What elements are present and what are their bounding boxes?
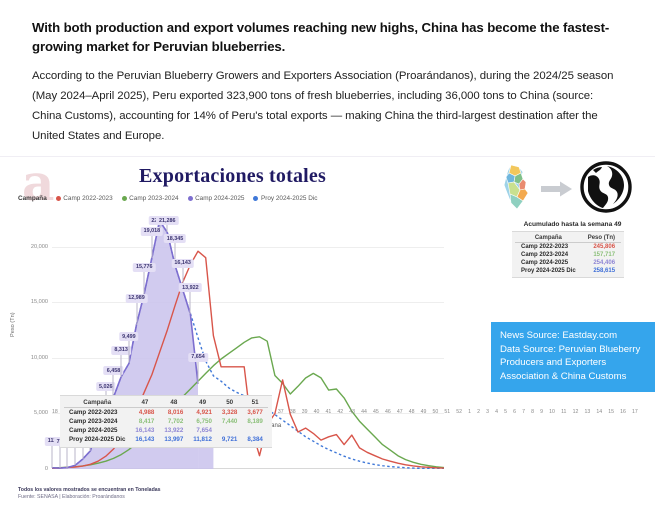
table-row: Camp 2023-2024157,717 xyxy=(515,251,621,259)
data-label-stem xyxy=(144,272,145,294)
table-cell: 157,717 xyxy=(582,251,621,259)
table-row: Camp 2022-20234,9888,0164,9213,3283,677 xyxy=(64,408,268,418)
source-line: Data Source: Peruvian Blueberry xyxy=(500,343,646,357)
data-label: 7,654 xyxy=(188,353,208,362)
x-tick-label: 44 xyxy=(361,409,367,421)
table-cell: 11,812 xyxy=(188,435,217,444)
x-tick-label: 10 xyxy=(549,409,555,421)
table-cell: 13,922 xyxy=(159,426,188,435)
table-cell: 254,406 xyxy=(582,259,621,267)
peru-map-icon xyxy=(497,163,537,211)
legend-item-camp-2023-2024[interactable]: Camp 2023-2024 xyxy=(122,195,179,202)
x-tick-label: 42 xyxy=(337,409,343,421)
chart-legend: Campaña Camp 2022-2023 Camp 2023-2024 Ca… xyxy=(18,195,317,202)
y-tick-label: 15,000 xyxy=(14,299,48,305)
data-label: 18,345 xyxy=(164,234,187,243)
row-label: Proy 2024-2025 Dic xyxy=(64,435,130,444)
x-tick-label: 12 xyxy=(573,409,579,421)
table-row: Proy 2024-2025 Dic16,14313,99711,8129,72… xyxy=(64,435,268,444)
table-cell: 9,721 xyxy=(217,435,242,444)
table-cell: 3,677 xyxy=(242,408,267,418)
accumulated-data-table: CampañaPeso (Tn) Camp 2022-2023245,806Ca… xyxy=(512,231,624,278)
globe-icon xyxy=(580,161,632,213)
table-body: Camp 2022-2023245,806Camp 2023-2024157,7… xyxy=(515,243,621,276)
x-tick-label: 47 xyxy=(397,409,403,421)
x-tick-label: 6 xyxy=(513,409,516,421)
legend-dot-icon xyxy=(188,196,193,201)
data-label: 21,286 xyxy=(156,216,179,225)
x-tick-label: 50 xyxy=(433,409,439,421)
table-cell: 7,440 xyxy=(217,417,242,426)
x-tick-label: 45 xyxy=(373,409,379,421)
footnote-source: Fuente: SENASA | Elaboración: Proarándan… xyxy=(18,494,161,500)
x-tick-label: 49 xyxy=(421,409,427,421)
table-cell: 13,997 xyxy=(159,435,188,444)
footnote-units: Todos los valores mostrados se encuentra… xyxy=(18,487,161,493)
x-tick-label: 3 xyxy=(486,409,489,421)
table-header-row: CampañaPeso (Tn) xyxy=(515,234,621,243)
row-label: Camp 2023-2024 xyxy=(515,251,582,259)
article-body: According to the Peruvian Blueberry Grow… xyxy=(32,67,625,146)
table-column-header: 48 xyxy=(159,398,188,408)
chart-footnote: Todos los valores mostrados se encuentra… xyxy=(18,487,161,500)
infographic-panel: a Exportaciones totales Campaña Camp 202… xyxy=(0,156,655,523)
table-row: Camp 2022-2023245,806 xyxy=(515,243,621,252)
data-label: 19,018 xyxy=(141,227,164,236)
x-tick-label: 2 xyxy=(477,409,480,421)
table-column-header: Peso (Tn) xyxy=(582,234,621,243)
x-tick-label: 40 xyxy=(314,409,320,421)
table-cell: 8,189 xyxy=(242,417,267,426)
data-label-stem xyxy=(190,292,191,314)
legend-label: Proy 2024-2025 Dic xyxy=(261,195,317,202)
article-block: With both production and export volumes … xyxy=(0,0,655,147)
row-label: Camp 2022-2023 xyxy=(64,408,130,418)
row-label: Proy 2024-2025 Dic xyxy=(515,267,582,275)
table-cell xyxy=(217,426,242,435)
table-cell: 8,417 xyxy=(130,417,159,426)
x-tick-label: 4 xyxy=(495,409,498,421)
table-cell: 16,143 xyxy=(130,435,159,444)
x-tick-label: 1 xyxy=(468,409,471,421)
x-tick-label: 15 xyxy=(608,409,614,421)
x-tick-label: 41 xyxy=(325,409,331,421)
legend-dot-icon xyxy=(56,196,61,201)
table-column-header: Campaña xyxy=(64,398,130,408)
table-cell: 3,328 xyxy=(217,408,242,418)
x-tick-label: 11 xyxy=(561,409,566,421)
table-column-header: 47 xyxy=(130,398,159,408)
table-row: Proy 2024-2025 Dic258,615 xyxy=(515,267,621,275)
table-body: Camp 2022-20234,9888,0164,9213,3283,677C… xyxy=(64,408,268,445)
legend-label: Camp 2024-2025 xyxy=(195,195,244,202)
table-cell: 245,806 xyxy=(582,243,621,252)
row-label: Camp 2024-2025 xyxy=(515,259,582,267)
data-label: 15,776 xyxy=(133,263,156,272)
table-column-header: 50 xyxy=(217,398,242,408)
data-label-stem xyxy=(52,446,53,468)
data-label-stem xyxy=(113,375,114,397)
data-label-stem xyxy=(59,446,60,468)
data-label-stem xyxy=(128,341,129,363)
article-headline: With both production and export volumes … xyxy=(32,18,625,56)
legend-dot-icon xyxy=(122,196,127,201)
x-tick-label: 9 xyxy=(540,409,543,421)
x-tick-label: 16 xyxy=(620,409,626,421)
data-label-stem xyxy=(121,355,122,377)
data-label-stem xyxy=(151,236,152,258)
table-row: Camp 2023-20248,4177,7026,7507,4408,189 xyxy=(64,417,268,426)
x-tick-label: 38 xyxy=(290,409,296,421)
table-cell: 7,654 xyxy=(188,426,217,435)
x-tick-label: 13 xyxy=(584,409,590,421)
x-tick-label: 7 xyxy=(522,409,525,421)
legend-title: Campaña xyxy=(18,195,47,202)
table-cell: 16,143 xyxy=(130,426,159,435)
y-tick-label: 20,000 xyxy=(14,244,48,250)
table-cell: 8,384 xyxy=(242,435,267,444)
table-cell: 4,988 xyxy=(130,408,159,418)
table-cell: 4,921 xyxy=(188,408,217,418)
x-tick-label: 48 xyxy=(409,409,415,421)
y-axis-label: Peso (Tn) xyxy=(10,312,16,337)
legend-dot-icon xyxy=(253,196,258,201)
x-tick-label: 37 xyxy=(278,409,284,421)
data-label-stem xyxy=(136,303,137,325)
x-tick-label: 17 xyxy=(632,409,638,421)
x-tick-label: 51 xyxy=(444,409,450,421)
x-tick-label: 43 xyxy=(349,409,355,421)
legend-label: Camp 2023-2024 xyxy=(129,195,178,202)
y-tick-label: 10,000 xyxy=(14,355,48,361)
table-cell: 7,702 xyxy=(159,417,188,426)
table-row: Camp 2024-2025254,406 xyxy=(515,259,621,267)
x-tick-label: 39 xyxy=(302,409,308,421)
legend-item-camp-2024-2025[interactable]: Camp 2024-2025 xyxy=(188,195,245,202)
table-column-header: 51 xyxy=(242,398,267,408)
table-cell: 258,615 xyxy=(582,267,621,275)
data-label: 16,143 xyxy=(171,259,194,268)
data-label-stem xyxy=(198,362,199,384)
table-header-row: Campaña4748495051 xyxy=(64,398,268,408)
table-column-header: 49 xyxy=(188,398,217,408)
accumulated-title: Acumulado hasta la semana 49 xyxy=(495,221,650,228)
legend-label: Camp 2022-2023 xyxy=(63,195,112,202)
x-tick-label: 52 xyxy=(456,409,462,421)
arrow-right-icon xyxy=(541,181,573,197)
table-cell: 8,016 xyxy=(159,408,188,418)
table-column-header: Campaña xyxy=(515,234,582,243)
source-line: Association & China Customs xyxy=(500,370,646,384)
data-label-stem xyxy=(159,225,160,228)
x-tick-label: 18 xyxy=(52,409,58,421)
y-tick-label: 5,000 xyxy=(14,410,48,416)
row-label: Camp 2022-2023 xyxy=(515,243,582,252)
x-tick-label: 46 xyxy=(385,409,391,421)
source-callout-box: News Source: Eastday.com Data Source: Pe… xyxy=(491,322,655,392)
data-label-stem xyxy=(67,446,68,468)
x-tick-label: 5 xyxy=(504,409,507,421)
legend-item-proy-2024-2025-dic[interactable]: Proy 2024-2025 Dic xyxy=(253,195,317,202)
data-label: 13,922 xyxy=(179,283,202,292)
x-tick-label: 8 xyxy=(531,409,534,421)
source-line: Producers and Exporters xyxy=(500,356,646,370)
weekly-data-table: Campaña4748495051 Camp 2022-20234,9888,0… xyxy=(60,395,272,448)
row-label: Camp 2023-2024 xyxy=(64,417,130,426)
y-tick-label: 0 xyxy=(14,466,48,472)
data-label-stem xyxy=(167,225,168,232)
table-row: Camp 2024-202516,14313,9227,654 xyxy=(64,426,268,435)
legend-item-camp-2022-2023[interactable]: Camp 2022-2023 xyxy=(56,195,113,202)
row-label: Camp 2024-2025 xyxy=(64,426,130,435)
data-label: 9,499 xyxy=(119,332,139,341)
table-cell xyxy=(242,426,267,435)
table-cell: 6,750 xyxy=(188,417,217,426)
x-tick-label: 14 xyxy=(596,409,602,421)
source-line: News Source: Eastday.com xyxy=(500,329,646,343)
data-label: 12,989 xyxy=(125,294,148,303)
